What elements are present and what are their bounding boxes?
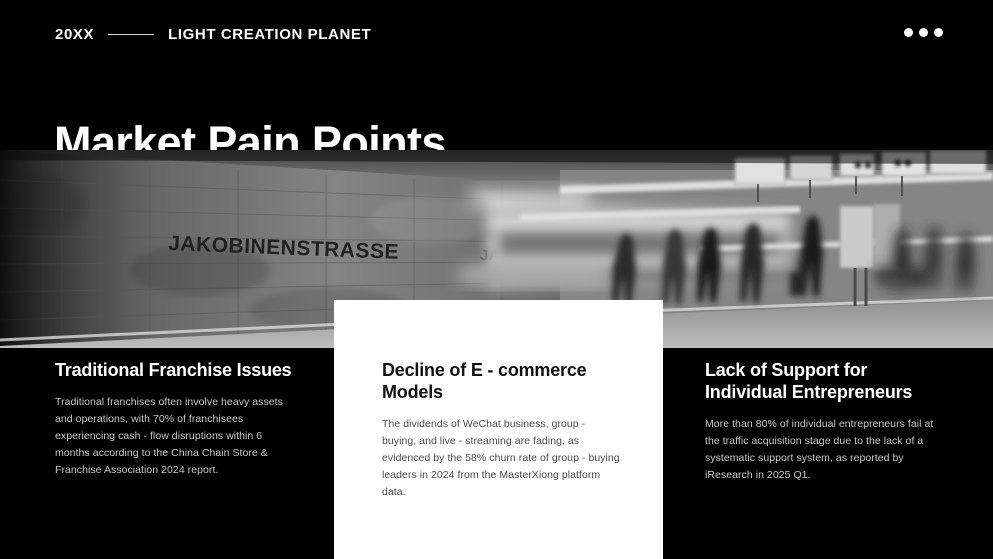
- column-1-title: Traditional Franchise Issues: [55, 360, 294, 382]
- pain-point-column-2-card: Decline of E - commerce Models The divid…: [334, 300, 663, 559]
- column-3-body: More than 80% of individual entrepreneur…: [705, 416, 948, 484]
- brand-name: LIGHT CREATION PLANET: [168, 26, 371, 43]
- pain-point-column-1: Traditional Franchise Issues Traditional…: [0, 348, 334, 559]
- column-3-title: Lack of Support for Individual Entrepren…: [705, 360, 948, 404]
- brand-lockup: 20XX LIGHT CREATION PLANET: [55, 26, 371, 43]
- dot-2: [919, 28, 928, 37]
- column-1-body: Traditional franchises often involve hea…: [55, 394, 294, 479]
- three-dots-icon[interactable]: [904, 28, 943, 37]
- column-2-title: Decline of E - commerce Models: [382, 360, 621, 404]
- pain-point-column-3: Lack of Support for Individual Entrepren…: [663, 348, 993, 559]
- dot-3: [934, 28, 943, 37]
- slide-header: 20XX LIGHT CREATION PLANET: [0, 0, 993, 68]
- slide-market-pain-points: 20XX LIGHT CREATION PLANET Market Pain P…: [0, 0, 993, 559]
- brand-year: 20XX: [55, 26, 94, 43]
- column-2-body: The dividends of WeChat business, group …: [382, 416, 621, 501]
- brand-divider-rule: [108, 34, 154, 35]
- dot-1: [904, 28, 913, 37]
